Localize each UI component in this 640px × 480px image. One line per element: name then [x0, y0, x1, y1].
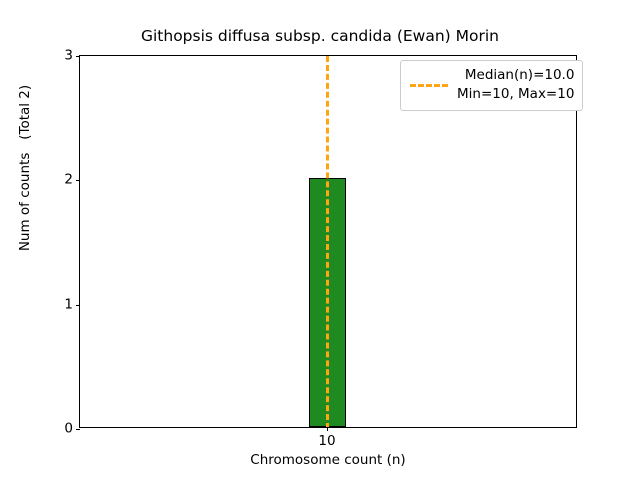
plot-area: 0 1 2 3 10 Median(n)=10.0 Min=10, Max=10 [79, 55, 577, 428]
ytick-label-3: 3 [64, 49, 73, 63]
ytick-label-0: 0 [64, 422, 73, 436]
legend-label-median: Median(n)=10.0 [465, 66, 575, 85]
x-axis-title: Chromosome count (n) [79, 452, 577, 468]
plot-inner [80, 56, 576, 427]
ytick-mark-3 [76, 56, 80, 57]
legend-row-median: Median(n)=10.0 Min=10, Max=10 [409, 66, 574, 104]
ytick-mark-1 [76, 305, 80, 306]
legend-label-block: Median(n)=10.0 Min=10, Max=10 [457, 66, 574, 104]
ytick-label-2: 2 [64, 174, 73, 188]
ytick-label-1: 1 [64, 298, 73, 312]
y-axis-title: Num of counts (Total 2) [17, 78, 33, 258]
chart-figure: Githopsis diffusa subsp. candida (Ewan) … [0, 0, 640, 480]
xtick-label-10: 10 [318, 435, 335, 449]
xtick-mark-10 [327, 427, 328, 431]
page-title: Githopsis diffusa subsp. candida (Ewan) … [0, 27, 640, 45]
legend-label-minmax: Min=10, Max=10 [457, 85, 574, 104]
median-line [326, 56, 329, 427]
ytick-mark-0 [76, 429, 80, 430]
legend[interactable]: Median(n)=10.0 Min=10, Max=10 [400, 60, 583, 111]
dashed-line-icon [409, 78, 449, 92]
ytick-mark-2 [76, 180, 80, 181]
